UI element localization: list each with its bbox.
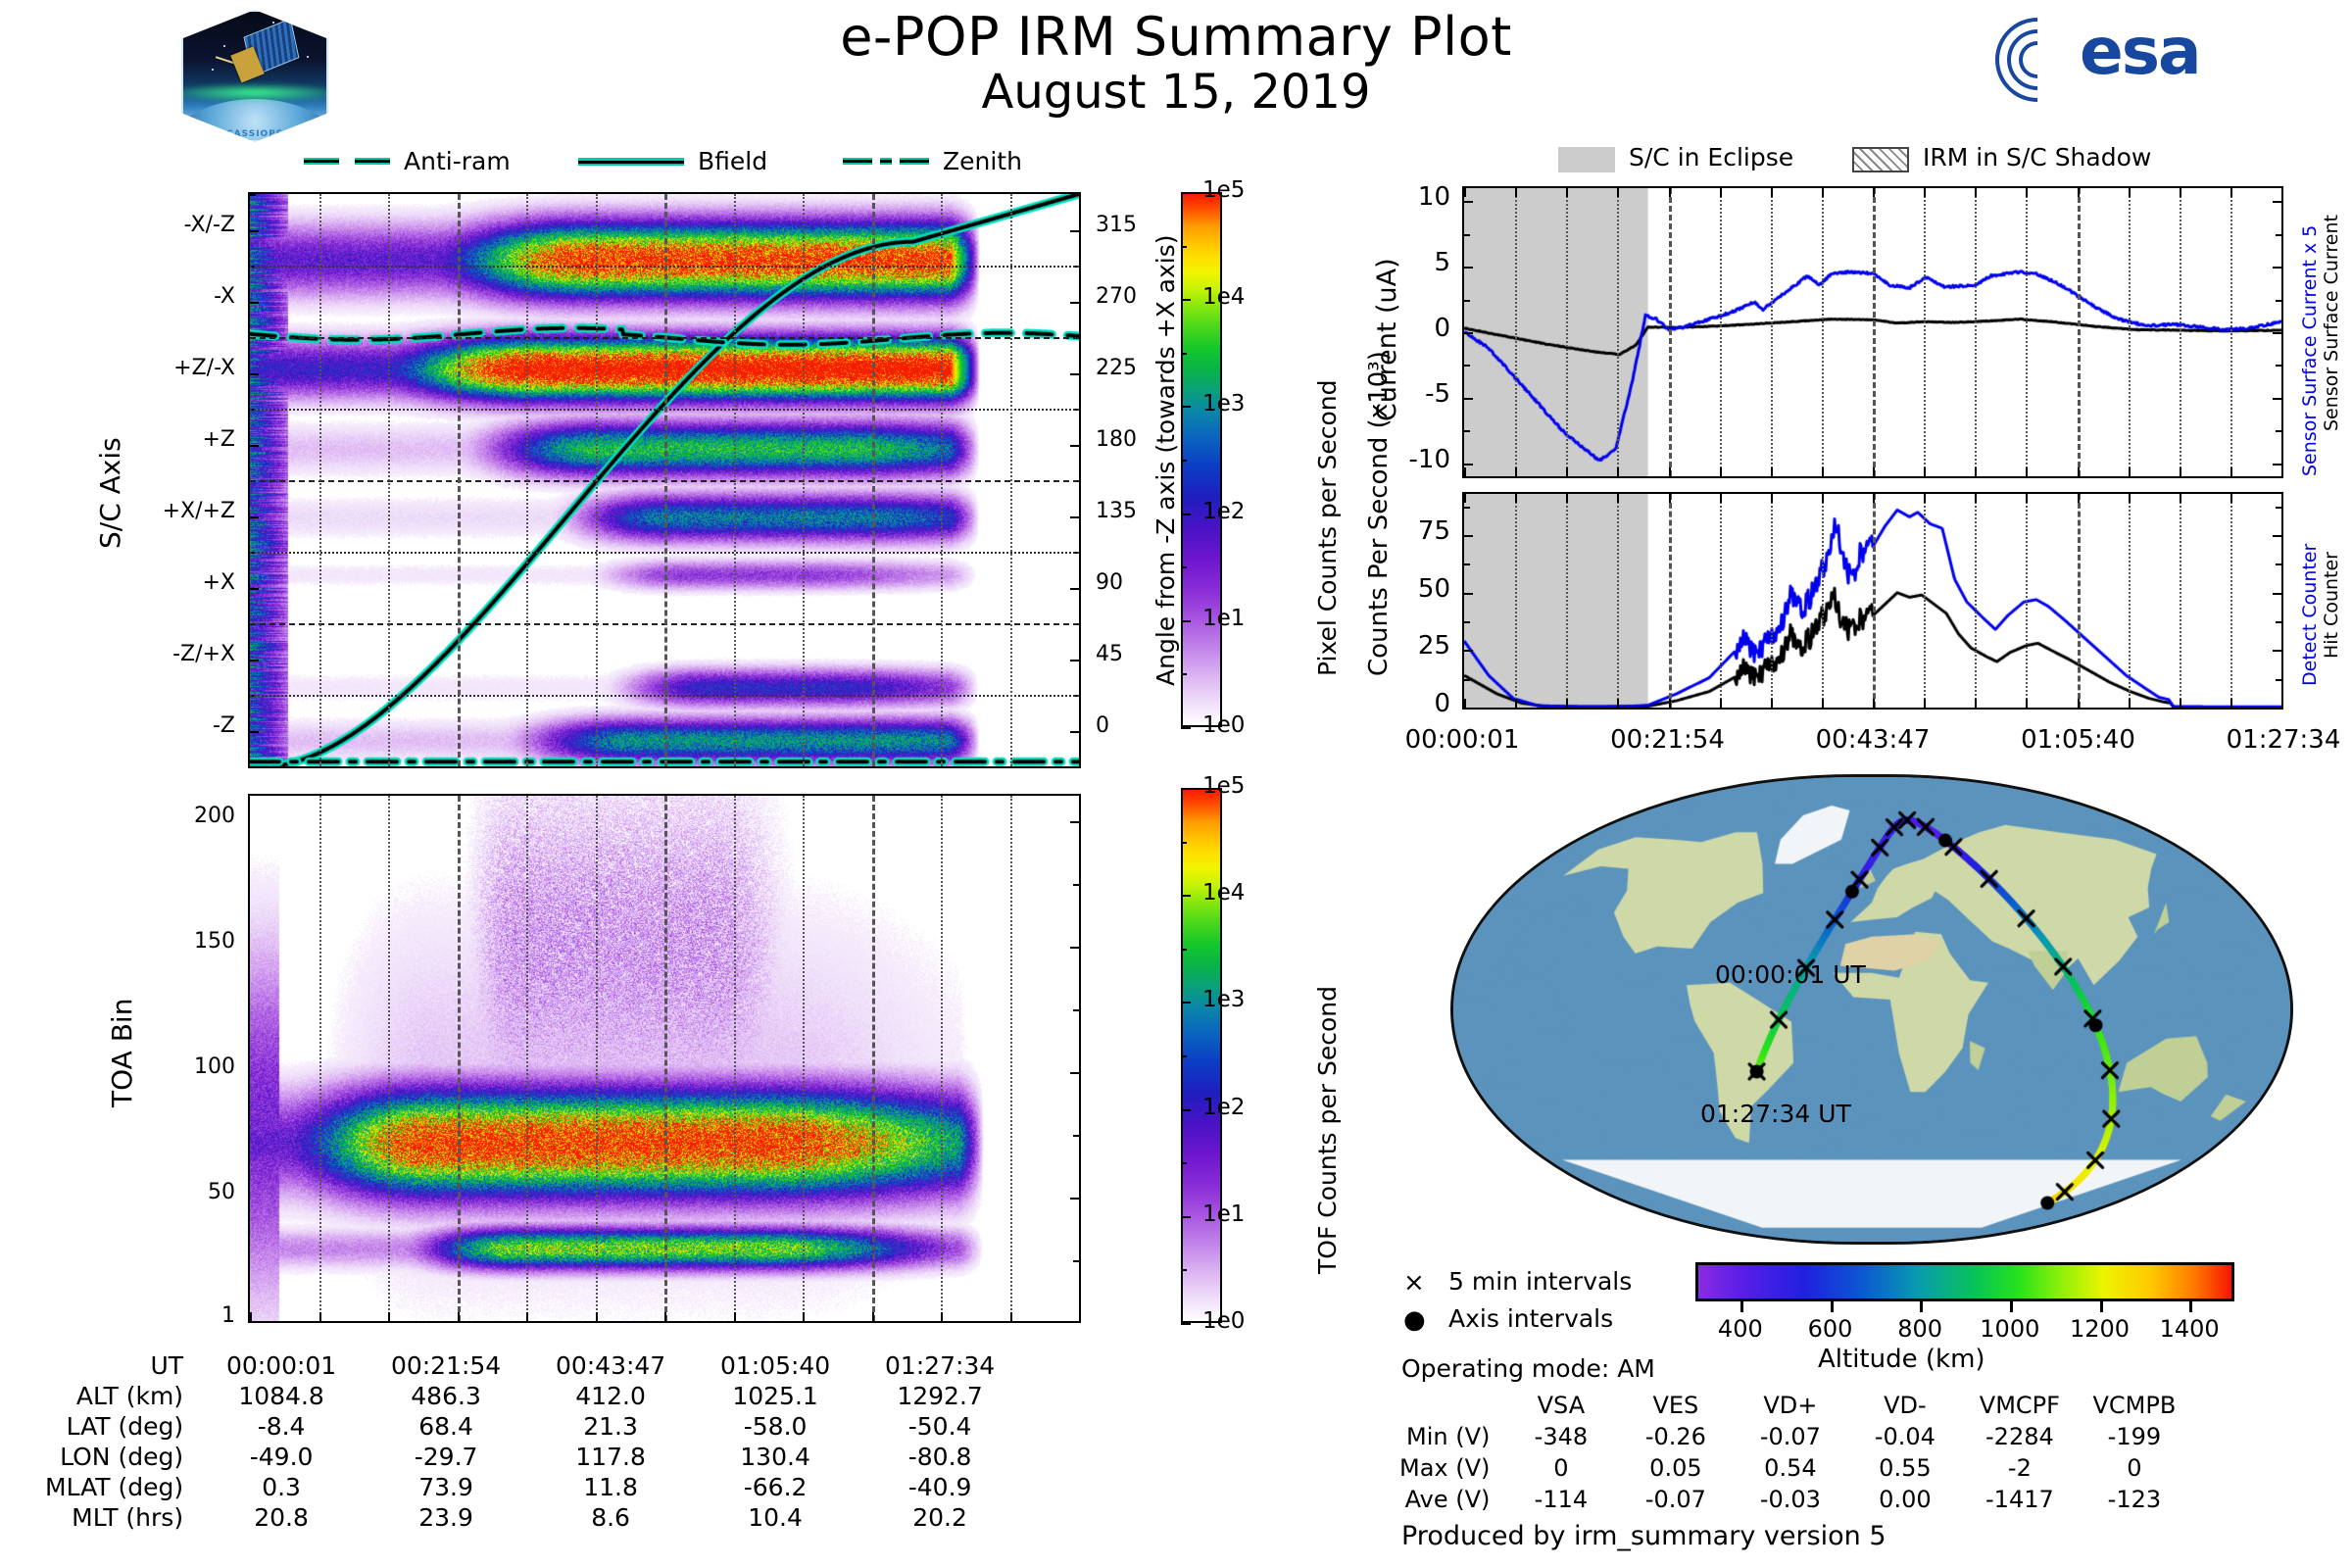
tof-counts-colorbar-minor-tick bbox=[1181, 1055, 1187, 1057]
pixel-counts-colorbar-label: 1e1 bbox=[1202, 606, 1245, 631]
current-xtick-top bbox=[2230, 188, 2232, 197]
toa-bin-ylabel: TOA Bin bbox=[106, 999, 138, 1107]
time-axis-label: 00:00:01 bbox=[1379, 725, 1545, 755]
ephemeris-row-label: LON (deg) bbox=[45, 1442, 199, 1472]
ephemeris-cell: -66.2 bbox=[693, 1472, 857, 1502]
current-xtick bbox=[1515, 467, 1517, 476]
axis-interval-label: Axis intervals bbox=[1448, 1304, 1613, 1333]
current-ytick-label: -10 bbox=[1323, 445, 1450, 474]
counts-vgrid bbox=[2180, 494, 2181, 708]
counts-xtick-top bbox=[1617, 494, 1619, 503]
toa-xtick bbox=[250, 1312, 252, 1321]
current-xtick bbox=[1771, 467, 1773, 476]
current-right-label-blue: Sensor Surface Current x 5 bbox=[2299, 225, 2321, 476]
current-xtick-top bbox=[1924, 188, 1926, 197]
sc-axis-vgrid bbox=[596, 194, 598, 766]
voltage-cell: -114 bbox=[1503, 1484, 1618, 1515]
current-xtick-top bbox=[2281, 188, 2283, 197]
voltage-column-header: VMCPF bbox=[1962, 1390, 2077, 1421]
counts-minor-tick bbox=[2276, 650, 2281, 652]
tof-counts-colorbar-label: 1e1 bbox=[1202, 1201, 1245, 1227]
sc-axis-minor-tick bbox=[1073, 194, 1079, 196]
toa-vgrid bbox=[526, 796, 528, 1321]
toa-xtick bbox=[388, 1312, 390, 1321]
counts-vgrid bbox=[2078, 494, 2081, 708]
ephemeris-row-label: LAT (deg) bbox=[45, 1411, 199, 1442]
current-minor-tick bbox=[2276, 300, 2281, 302]
pixel-counts-colorbar-label: 1e4 bbox=[1202, 284, 1245, 310]
sc-axis-right-ytick-label: 315 bbox=[1096, 213, 1174, 237]
legend-label-anti-ram: Anti-ram bbox=[404, 147, 511, 175]
counts-ytick-label: 25 bbox=[1333, 631, 1450, 661]
current-minor-tick bbox=[2276, 464, 2281, 465]
counts-vgrid bbox=[1617, 494, 1619, 708]
sc-axis-vgrid bbox=[941, 194, 943, 766]
voltage-cell: -199 bbox=[2077, 1421, 2191, 1452]
current-minor-tick bbox=[2276, 201, 2281, 203]
counts-xtick bbox=[1566, 699, 1568, 708]
altitude-colorbar-ticks: 400600800100012001400 bbox=[1695, 1301, 2234, 1347]
current-xtick-top bbox=[2180, 188, 2181, 197]
pixel-counts-colorbar-minor-tick bbox=[1181, 353, 1187, 355]
ephemeris-cell: 412.0 bbox=[528, 1381, 693, 1411]
sc-axis-minor-tick bbox=[1073, 660, 1079, 661]
toa-vgrid bbox=[941, 796, 943, 1321]
ephemeris-row: ALT (km)1084.8486.3412.01025.11292.7 bbox=[45, 1381, 1022, 1411]
sc-axis-vgrid bbox=[872, 194, 875, 766]
counts-vgrid bbox=[1924, 494, 1926, 708]
toa-ytick-label: 100 bbox=[98, 1054, 235, 1079]
counts-xtick bbox=[2026, 699, 2028, 708]
voltage-cell: 0 bbox=[1503, 1452, 1618, 1484]
altitude-colorbar bbox=[1695, 1262, 2234, 1301]
ephemeris-cell: 1025.1 bbox=[693, 1381, 857, 1411]
voltage-cell: 0.55 bbox=[1847, 1452, 1962, 1484]
sc-axis-vgrid bbox=[803, 194, 805, 766]
current-xtick bbox=[1822, 467, 1824, 476]
sc-axis-vgrid bbox=[664, 194, 667, 766]
sc-axis-minor-tick bbox=[250, 660, 256, 661]
current-xtick-top bbox=[2129, 188, 2131, 197]
counts-right-label-black: Hit Counter bbox=[2321, 552, 2342, 659]
pixel-counts-colorbar-tick bbox=[1181, 406, 1191, 408]
toa-minor-tick bbox=[1073, 1198, 1079, 1200]
ephemeris-cell: 23.9 bbox=[364, 1502, 528, 1533]
toa-xtick bbox=[1010, 1312, 1012, 1321]
tof-counts-colorbar-label: 1e2 bbox=[1202, 1095, 1245, 1120]
pixel-counts-colorbar-tick bbox=[1181, 299, 1191, 301]
voltage-row-label: Max (V) bbox=[1399, 1452, 1503, 1484]
toa-ytick bbox=[1070, 1321, 1079, 1323]
current-xtick-top bbox=[1669, 188, 1671, 197]
counts-minor-tick bbox=[2276, 535, 2281, 537]
ephemeris-row-label: ALT (km) bbox=[45, 1381, 199, 1411]
counts-minor-tick bbox=[2276, 563, 2281, 565]
ephemeris-table: UT00:00:0100:21:5400:43:4701:05:4001:27:… bbox=[45, 1350, 1022, 1533]
current-xtick bbox=[1464, 467, 1466, 476]
eclipse-swatch bbox=[1558, 147, 1615, 172]
pixel-counts-colorbar-tick bbox=[1181, 192, 1191, 194]
altitude-colorbar-label: Altitude (km) bbox=[1818, 1345, 1985, 1374]
ephemeris-cell: 11.8 bbox=[528, 1472, 693, 1502]
altitude-tick bbox=[2010, 1301, 2013, 1312]
ephemeris-row-label: UT bbox=[45, 1350, 199, 1381]
toa-xtick bbox=[941, 1312, 943, 1321]
tof-counts-colorbar-minor-tick bbox=[1181, 949, 1187, 951]
tof-counts-colorbar-label: 1e3 bbox=[1202, 987, 1245, 1012]
current-vgrid bbox=[1720, 188, 1722, 476]
sc-axis-right-ytick-label: 90 bbox=[1096, 570, 1174, 595]
ephemeris-row: LON (deg)-49.0-29.7117.8130.4-80.8 bbox=[45, 1442, 1022, 1472]
ephemeris-row-label: MLAT (deg) bbox=[45, 1472, 199, 1502]
current-vgrid bbox=[2129, 188, 2131, 476]
pixel-counts-colorbar-label: 1e2 bbox=[1202, 499, 1245, 524]
tof-counts-colorbar-tick bbox=[1181, 895, 1191, 897]
current-vgrid bbox=[2230, 188, 2232, 476]
current-xtick bbox=[2281, 467, 2283, 476]
current-xtick-top bbox=[1617, 188, 1619, 197]
altitude-tick-label: 1400 bbox=[2145, 1315, 2233, 1343]
ephemeris-cell: 117.8 bbox=[528, 1442, 693, 1472]
sc-axis-minor-tick bbox=[1073, 588, 1079, 590]
voltage-column-header: VD+ bbox=[1733, 1390, 1847, 1421]
sc-axis-right-ytick-label: 180 bbox=[1096, 427, 1174, 452]
sc-axis-minor-tick bbox=[250, 194, 256, 196]
pixel-counts-colorbar-label: 1e0 bbox=[1202, 712, 1245, 738]
sc-axis-vgrid bbox=[388, 194, 390, 766]
sc-axis-vgrid bbox=[319, 194, 321, 766]
toa-vgrid bbox=[1010, 796, 1012, 1321]
counts-vgrid bbox=[1566, 494, 1568, 708]
current-minor-tick bbox=[2276, 365, 2281, 367]
ephemeris-cell: -49.0 bbox=[199, 1442, 364, 1472]
voltage-table: VSAVESVD+VD-VMCPFVCMPBMin (V)-348-0.26-0… bbox=[1399, 1390, 2191, 1515]
current-vgrid bbox=[1822, 188, 1824, 476]
current-minor-tick bbox=[1464, 464, 1470, 465]
legend-label-sc-eclipse: S/C in Eclipse bbox=[1629, 143, 1793, 171]
current-minor-tick bbox=[1464, 398, 1470, 400]
voltage-header-row: VSAVESVD+VD-VMCPFVCMPB bbox=[1399, 1390, 2191, 1421]
counts-minor-tick bbox=[1464, 679, 1470, 681]
tof-counts-colorbar-label: TOF Counts per Second bbox=[1313, 986, 1342, 1274]
altitude-tick bbox=[2189, 1301, 2192, 1312]
sc-axis-minor-tick bbox=[250, 302, 256, 304]
counts-vgrid bbox=[1669, 494, 1672, 708]
counts-vgrid bbox=[2230, 494, 2232, 708]
toa-vgrid bbox=[458, 796, 461, 1321]
tof-counts-colorbar-tick bbox=[1181, 1216, 1191, 1218]
toa-ytick-label: 50 bbox=[98, 1180, 235, 1204]
counts-xtick bbox=[1669, 699, 1671, 708]
current-minor-tick bbox=[2276, 398, 2281, 400]
time-axis-label: 01:27:34 bbox=[2200, 725, 2352, 755]
sc-axis-right-ytick-label: 45 bbox=[1096, 642, 1174, 666]
current-vgrid bbox=[2180, 188, 2181, 476]
counts-xtick-top bbox=[2230, 494, 2232, 503]
toa-ytick-label: 150 bbox=[98, 929, 235, 954]
counts-xtick bbox=[1464, 699, 1466, 708]
tof-counts-colorbar-tick bbox=[1181, 1109, 1191, 1111]
ephemeris-cell: -40.9 bbox=[857, 1472, 1022, 1502]
counts-minor-tick bbox=[2276, 593, 2281, 595]
ephemeris-row: MLAT (deg)0.373.911.8-66.2-40.9 bbox=[45, 1472, 1022, 1502]
toa-minor-tick bbox=[1073, 884, 1079, 886]
counts-xtick-top bbox=[1566, 494, 1568, 503]
current-xtick bbox=[1669, 467, 1671, 476]
sc-axis-right-ytick-label: 0 bbox=[1096, 713, 1174, 738]
toa-ytick-label: 1 bbox=[98, 1303, 235, 1328]
tof-counts-colorbar-label: 1e0 bbox=[1202, 1308, 1245, 1334]
pixel-counts-colorbar-tick bbox=[1181, 620, 1191, 622]
current-xtick-top bbox=[1720, 188, 1722, 197]
altitude-tick-label: 1000 bbox=[1966, 1315, 2054, 1343]
ephemeris-cell: 00:43:47 bbox=[528, 1350, 693, 1381]
current-xtick-top bbox=[1822, 188, 1824, 197]
toa-xtick bbox=[872, 1312, 874, 1321]
current-xtick bbox=[1924, 467, 1926, 476]
counts-xtick bbox=[1617, 699, 1619, 708]
legend-eclipse-shadow: S/C in Eclipse IRM in S/C Shadow bbox=[1558, 143, 2323, 178]
counts-minor-tick bbox=[1464, 563, 1470, 565]
voltage-column-header: VCMPB bbox=[2077, 1390, 2191, 1421]
voltage-row: Max (V)00.050.540.55-20 bbox=[1399, 1452, 2191, 1484]
voltage-cell: -0.04 bbox=[1847, 1421, 1962, 1452]
current-xtick-top bbox=[1975, 188, 1977, 197]
toa-minor-tick bbox=[1073, 821, 1079, 823]
axis-interval-icon: ● bbox=[1403, 1305, 1426, 1335]
tof-counts-colorbar-tick bbox=[1181, 1323, 1191, 1325]
counts-xtick-top bbox=[2281, 494, 2283, 503]
current-minor-tick bbox=[1464, 267, 1470, 269]
ephemeris-row: LAT (deg)-8.468.421.3-58.0-50.4 bbox=[45, 1411, 1022, 1442]
current-vgrid bbox=[1515, 188, 1517, 476]
sc-axis-minor-tick bbox=[250, 766, 256, 768]
current-minor-tick bbox=[2276, 332, 2281, 334]
legend-label-bfield: Bfield bbox=[698, 147, 767, 175]
tof-counts-colorbar bbox=[1181, 788, 1222, 1323]
time-axis-label: 01:05:40 bbox=[1995, 725, 2162, 755]
toa-vgrid bbox=[803, 796, 805, 1321]
ephemeris-cell: 00:00:01 bbox=[199, 1350, 364, 1381]
tof-counts-colorbar-tick bbox=[1181, 788, 1191, 790]
sc-axis-minor-tick bbox=[1073, 373, 1079, 375]
toa-minor-tick bbox=[1073, 1260, 1079, 1262]
counts-vgrid bbox=[1822, 494, 1824, 708]
counts-xtick-top bbox=[2180, 494, 2181, 503]
voltage-cell: -2284 bbox=[1962, 1421, 2077, 1452]
sc-axis-minor-tick bbox=[250, 230, 256, 232]
toa-vgrid bbox=[872, 796, 875, 1321]
voltage-column-header: VD- bbox=[1847, 1390, 1962, 1421]
voltage-column-header: VSA bbox=[1503, 1390, 1618, 1421]
ephemeris-row: MLT (hrs)20.823.98.610.420.2 bbox=[45, 1502, 1022, 1533]
sc-axis-minor-tick bbox=[1073, 766, 1079, 768]
map-start-time-label: 00:00:01 UT bbox=[1715, 960, 1866, 989]
ephemeris-cell: 00:21:54 bbox=[364, 1350, 528, 1381]
sc-axis-minor-tick bbox=[250, 445, 256, 447]
voltage-cell: -1417 bbox=[1962, 1484, 2077, 1515]
sc-axis-right-ytick-label: 270 bbox=[1096, 284, 1174, 309]
map-end-time-label: 01:27:34 UT bbox=[1700, 1100, 1851, 1128]
toa-bin-panel bbox=[248, 794, 1081, 1323]
counts-vgrid bbox=[1515, 494, 1517, 708]
ephemeris-cell: 1292.7 bbox=[857, 1381, 1022, 1411]
toa-xtick bbox=[664, 1312, 666, 1321]
sc-axis-ytick-label: -Z bbox=[98, 713, 235, 738]
page-date: August 15, 2019 bbox=[588, 65, 1764, 120]
current-ytick-label: -5 bbox=[1323, 379, 1450, 409]
voltage-row: Min (V)-348-0.26-0.07-0.04-2284-199 bbox=[1399, 1421, 2191, 1452]
current-right-label-black: Sensor Surface Current bbox=[2321, 215, 2342, 431]
altitude-tick bbox=[1831, 1301, 1834, 1312]
toa-vgrid bbox=[596, 796, 598, 1321]
ephemeris-cell: -80.8 bbox=[857, 1442, 1022, 1472]
time-axis-label: 00:43:47 bbox=[1789, 725, 1956, 755]
counts-vgrid bbox=[2026, 494, 2028, 708]
counts-minor-tick bbox=[1464, 593, 1470, 595]
ephemeris-cell: -29.7 bbox=[364, 1442, 528, 1472]
pixel-counts-colorbar-minor-tick bbox=[1181, 246, 1187, 248]
toa-xtick bbox=[458, 1312, 460, 1321]
toa-minor-tick bbox=[1073, 1135, 1079, 1137]
counts-xtick-top bbox=[1515, 494, 1517, 503]
current-xtick-top bbox=[1515, 188, 1517, 197]
toa-xtick bbox=[526, 1312, 528, 1321]
counts-xtick-top bbox=[2129, 494, 2131, 503]
counts-minor-tick bbox=[2276, 621, 2281, 623]
five-min-interval-icon: × bbox=[1403, 1268, 1425, 1298]
counts-xtick-top bbox=[2078, 494, 2080, 503]
sc-axis-ytick-label: -Z/+X bbox=[98, 642, 235, 666]
ephemeris-cell: 21.3 bbox=[528, 1411, 693, 1442]
pixel-counts-colorbar-tick bbox=[1181, 514, 1191, 515]
counts-ytick-label: 50 bbox=[1333, 574, 1450, 604]
toa-vgrid bbox=[664, 796, 667, 1321]
voltage-cell: -2 bbox=[1962, 1452, 2077, 1484]
operating-mode-label: Operating mode: AM bbox=[1401, 1354, 1655, 1383]
counts-minor-tick bbox=[2276, 507, 2281, 509]
map-canvas bbox=[1453, 777, 2290, 1242]
pixel-counts-colorbar bbox=[1181, 192, 1222, 727]
counts-xtick bbox=[2230, 699, 2232, 708]
voltage-cell: 0.00 bbox=[1847, 1484, 1962, 1515]
pixel-counts-colorbar-label: 1e5 bbox=[1202, 177, 1245, 203]
counts-ytick-label: 0 bbox=[1333, 689, 1450, 718]
counts-xtick-top bbox=[1924, 494, 1926, 503]
ephemeris-cell: 01:27:34 bbox=[857, 1350, 1022, 1381]
voltage-cell: -0.03 bbox=[1733, 1484, 1847, 1515]
sc-axis-panel bbox=[248, 192, 1081, 768]
current-minor-tick bbox=[1464, 300, 1470, 302]
voltage-cell: -0.07 bbox=[1733, 1421, 1847, 1452]
tof-counts-colorbar-tick bbox=[1181, 1002, 1191, 1004]
ephemeris-cell: 1084.8 bbox=[199, 1381, 364, 1411]
legend-sc-axis: Anti-ram Bfield Zenith bbox=[294, 145, 1039, 180]
counts-xtick bbox=[2180, 699, 2181, 708]
toa-xtick bbox=[596, 1312, 598, 1321]
counts-xtick bbox=[1924, 699, 1926, 708]
sc-axis-minor-tick bbox=[250, 588, 256, 590]
voltage-cell: 0.05 bbox=[1618, 1452, 1733, 1484]
voltage-cell: 0.54 bbox=[1733, 1452, 1847, 1484]
sc-axis-ytick-label: -X bbox=[98, 284, 235, 309]
page-title: e-POP IRM Summary Plot bbox=[588, 6, 1764, 68]
toa-vgrid bbox=[734, 796, 736, 1321]
sc-axis-minor-tick bbox=[250, 731, 256, 733]
sc-axis-ytick-label: +Z bbox=[98, 427, 235, 452]
sc-axis-minor-tick bbox=[250, 516, 256, 518]
counts-xtick-top bbox=[1720, 494, 1722, 503]
five-min-interval-label: 5 min intervals bbox=[1448, 1267, 1632, 1296]
counts-xtick bbox=[2129, 699, 2131, 708]
altitude-tick-label: 800 bbox=[1876, 1315, 1964, 1343]
tof-counts-colorbar-minor-tick bbox=[1181, 842, 1187, 844]
counts-xtick bbox=[1873, 699, 1875, 708]
current-vgrid bbox=[1771, 188, 1773, 476]
current-ytick-label: 5 bbox=[1323, 248, 1450, 277]
tof-counts-colorbar-minor-tick bbox=[1181, 1269, 1187, 1271]
voltage-cell: -0.07 bbox=[1618, 1484, 1733, 1515]
sc-axis-right-ytick-label: 135 bbox=[1096, 499, 1174, 523]
altitude-tick-label: 1200 bbox=[2056, 1315, 2144, 1343]
current-xtick bbox=[2026, 467, 2028, 476]
current-minor-tick bbox=[1464, 430, 1470, 432]
sc-axis-minor-tick bbox=[1073, 230, 1079, 232]
counts-minor-tick bbox=[1464, 507, 1470, 509]
ephemeris-cell: 10.4 bbox=[693, 1502, 857, 1533]
esa-logo: esa bbox=[1989, 12, 2293, 100]
esa-logo-text: esa bbox=[2080, 16, 2200, 88]
current-vgrid bbox=[1669, 188, 1672, 476]
current-xtick-top bbox=[2078, 188, 2080, 197]
toa-xtick bbox=[734, 1312, 736, 1321]
toa-xtick bbox=[1079, 1312, 1081, 1321]
counts-xtick-top bbox=[1873, 494, 1875, 503]
current-minor-tick bbox=[1464, 234, 1470, 236]
shadow-hatch-swatch bbox=[1852, 147, 1909, 172]
voltage-row-label: Ave (V) bbox=[1399, 1484, 1503, 1515]
counts-xtick-top bbox=[1975, 494, 1977, 503]
current-vgrid bbox=[1975, 188, 1977, 476]
tof-counts-colorbar-minor-tick bbox=[1181, 1162, 1187, 1164]
counts-xtick bbox=[1822, 699, 1824, 708]
sc-axis-ytick-label: +Z/-X bbox=[98, 356, 235, 380]
counts-xtick bbox=[2078, 699, 2080, 708]
voltage-corner bbox=[1399, 1390, 1503, 1421]
counts-right-label-blue: Detect Counter bbox=[2299, 544, 2321, 686]
counts-xtick bbox=[1771, 699, 1773, 708]
current-panel bbox=[1462, 186, 2283, 478]
sc-axis-vgrid bbox=[526, 194, 528, 766]
ephemeris-cell: 8.6 bbox=[528, 1502, 693, 1533]
ephemeris-cell: 20.2 bbox=[857, 1502, 1022, 1533]
voltage-cell: -123 bbox=[2077, 1484, 2191, 1515]
voltage-cell: -0.26 bbox=[1618, 1421, 1733, 1452]
cassiope-logo: CASSIOPE bbox=[181, 10, 328, 142]
toa-minor-tick bbox=[1073, 947, 1079, 949]
sc-axis-ytick-label: +X bbox=[98, 570, 235, 595]
current-minor-tick bbox=[2276, 430, 2281, 432]
counts-xtick-top bbox=[2026, 494, 2028, 503]
sc-axis-ytick-label: +X/+Z bbox=[98, 499, 235, 523]
current-xtick bbox=[2078, 467, 2080, 476]
altitude-tick bbox=[2100, 1301, 2103, 1312]
altitude-tick bbox=[1920, 1301, 1923, 1312]
current-xtick-top bbox=[2026, 188, 2028, 197]
voltage-cell: 0 bbox=[2077, 1452, 2191, 1484]
tof-counts-colorbar-label: 1e5 bbox=[1202, 773, 1245, 799]
pixel-counts-colorbar-minor-tick bbox=[1181, 673, 1187, 675]
